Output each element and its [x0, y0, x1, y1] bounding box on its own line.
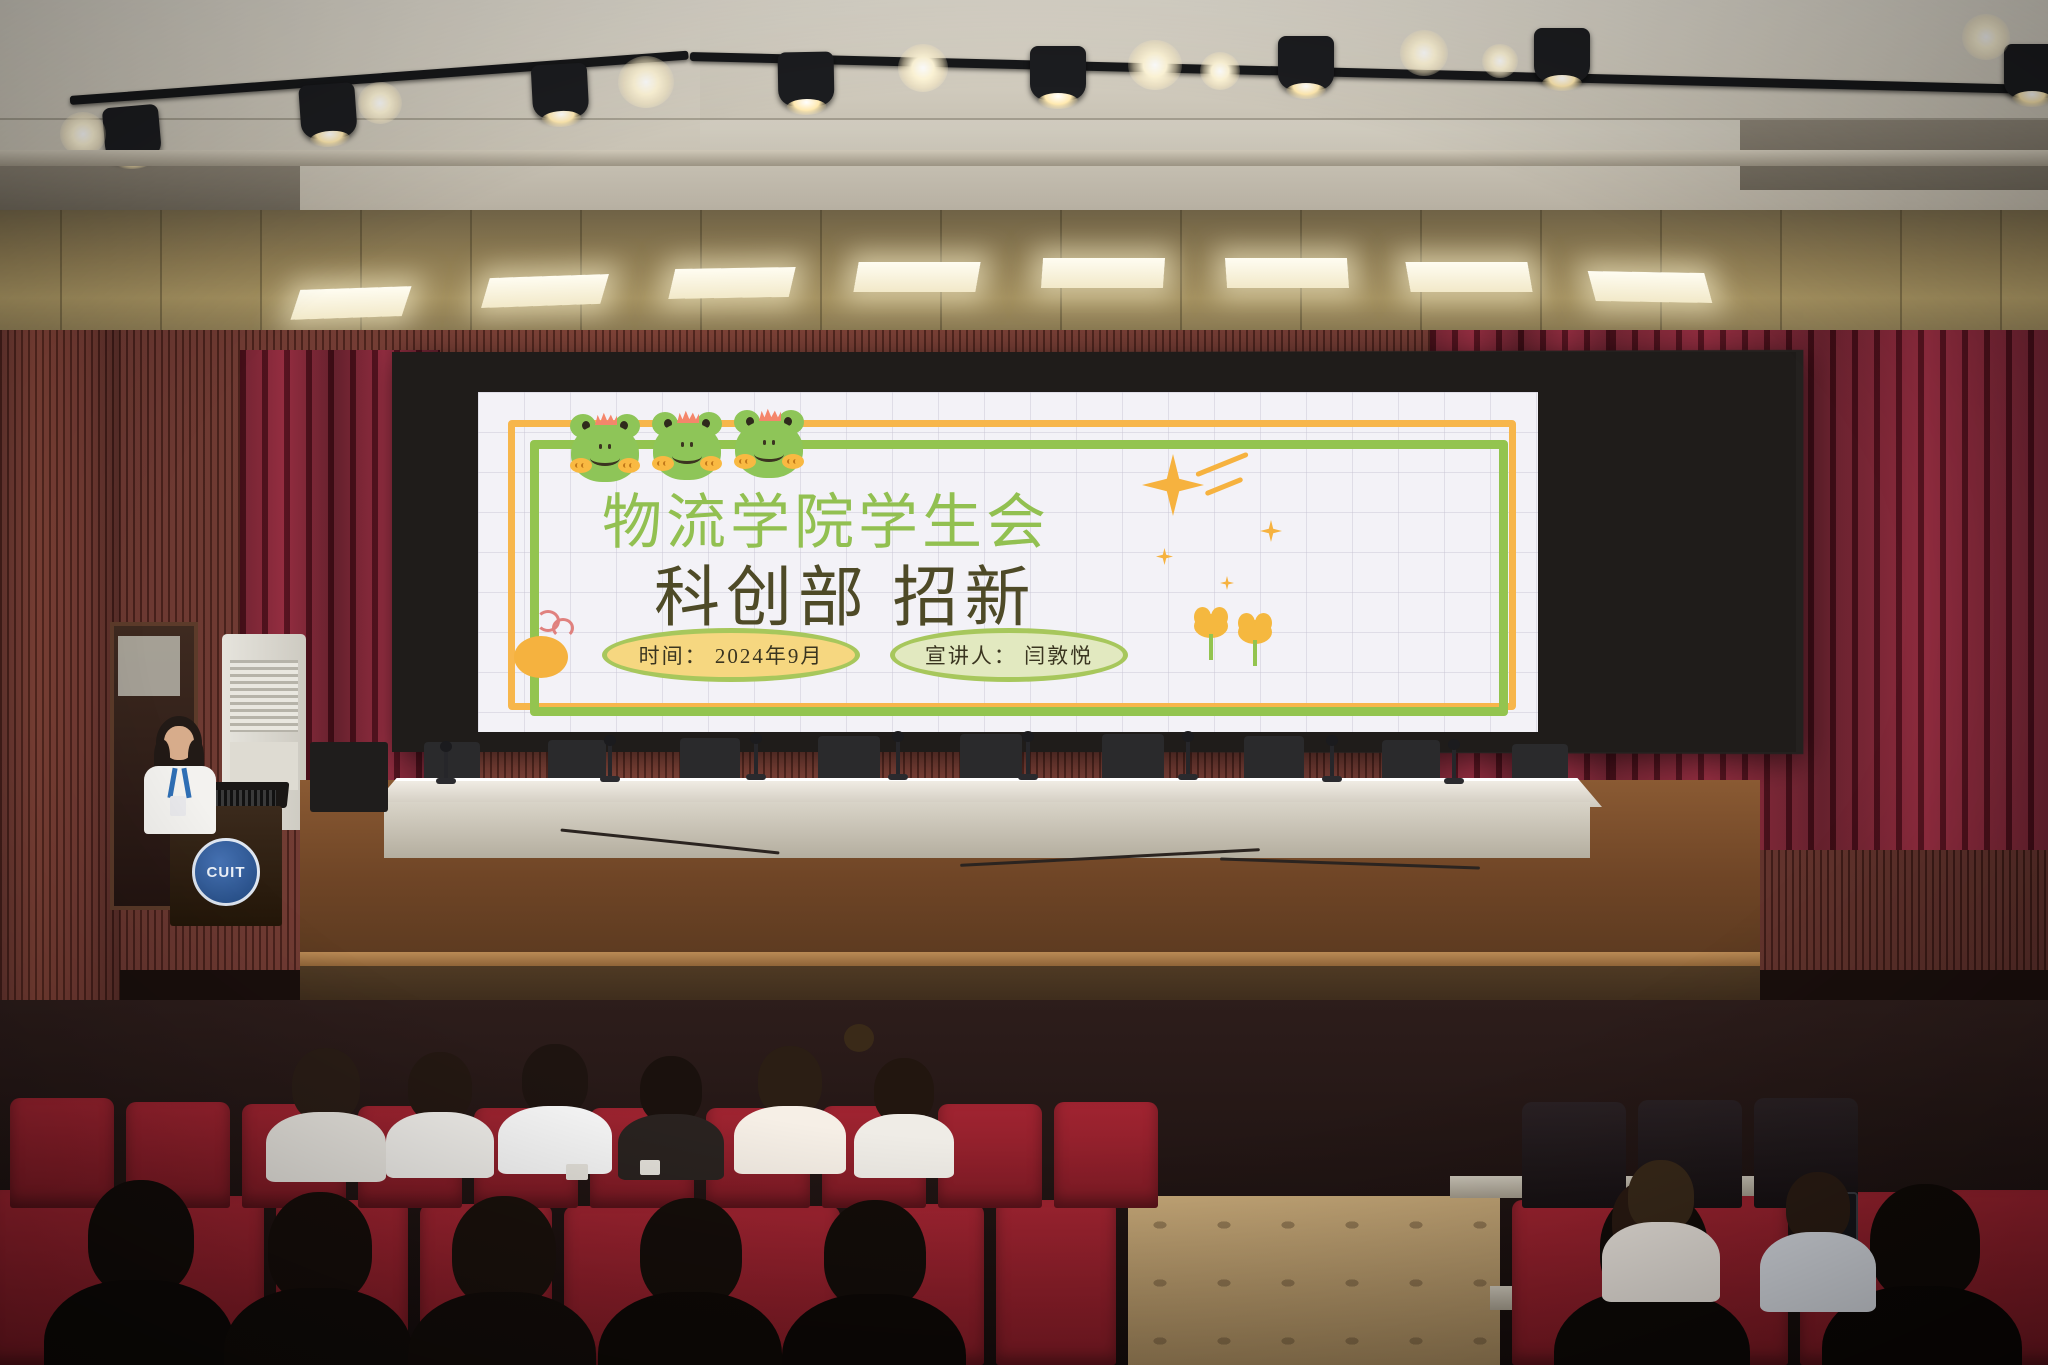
floor-speaker-monitor — [310, 742, 388, 812]
table-microphone-5 — [1026, 740, 1030, 776]
spotlight-2 — [298, 82, 358, 140]
microphone-base-8 — [1444, 778, 1464, 784]
microphone-base-3 — [746, 774, 766, 780]
table-microphone-3 — [754, 742, 758, 776]
table-microphone-2 — [608, 744, 612, 778]
microphone-base-6 — [1178, 774, 1198, 780]
soffit-lip — [0, 150, 2048, 166]
conference-chair-6 — [1102, 734, 1164, 784]
table-microphone-1 — [444, 750, 448, 780]
spotlight-8 — [2004, 44, 2048, 98]
ceiling-bulb-9 — [1962, 14, 2010, 60]
table-microphone-4 — [896, 740, 900, 776]
flower-decoration-2 — [1238, 620, 1272, 666]
seat-row2-11 — [1522, 1102, 1626, 1208]
ceiling-bulb-3 — [618, 56, 674, 108]
slide-pill-time: 时间： 2024年9月 — [602, 628, 860, 682]
microphone-base-7 — [1322, 776, 1342, 782]
microphone-base-2 — [600, 776, 620, 782]
sparkle-star-icon — [1142, 454, 1204, 516]
door-window — [118, 636, 180, 696]
ceiling-bulb-4 — [898, 44, 948, 92]
ceiling-bulb-7 — [1400, 30, 1448, 76]
spotlight-4 — [778, 52, 835, 107]
microphone-base-4 — [888, 774, 908, 780]
aisle-carpet — [1128, 1196, 1500, 1365]
ceiling-troffer-8 — [1588, 271, 1713, 303]
cuit-emblem-logo: CUIT — [192, 838, 260, 906]
conference-chair-5 — [960, 734, 1022, 784]
presenter-name-badge — [170, 796, 186, 816]
auditorium-photo: 物流学院学生会 科创部 招新 时间： 2024年9月 宣讲人： 闫敦悦 CU — [0, 0, 2048, 1365]
seat-row2-1 — [10, 1098, 114, 1208]
orange-squiggle-2 — [552, 618, 574, 638]
ceiling-bulb-8 — [1482, 44, 1518, 78]
ceiling-troffer-5 — [1041, 258, 1165, 288]
air-conditioner-vents — [230, 660, 298, 732]
ceiling-bulb-2 — [358, 82, 402, 124]
audience-badge-2 — [640, 1160, 660, 1175]
seat-row1-8 — [996, 1200, 1116, 1365]
spotlight-6 — [1278, 36, 1334, 90]
spotlight-7 — [1534, 28, 1590, 82]
pumpkin-decoration — [514, 636, 568, 678]
presenter-at-podium — [140, 716, 230, 816]
table-microphone-8 — [1452, 748, 1456, 780]
microphone-base-5 — [1018, 774, 1038, 780]
table-microphone-6 — [1186, 740, 1190, 776]
ceiling-troffer-2 — [481, 274, 609, 308]
audience-badge-1 — [566, 1164, 588, 1180]
spotlight-3 — [531, 63, 590, 120]
ceiling-troffer-6 — [1225, 258, 1349, 288]
slide-pill-speaker: 宣讲人： 闫敦悦 — [890, 628, 1128, 682]
frog-decoration-2 — [650, 412, 724, 482]
table-microphone-7 — [1330, 744, 1334, 778]
ceiling-troffer-1 — [290, 286, 411, 320]
ceiling-troffer-4 — [853, 262, 980, 292]
spotlight-5 — [1030, 46, 1086, 100]
ceiling-bulb-6 — [1200, 52, 1240, 90]
ceiling-bulb-5 — [1128, 40, 1182, 90]
projected-slide: 物流学院学生会 科创部 招新 时间： 2024年9月 宣讲人： 闫敦悦 — [478, 392, 1538, 732]
slide-title-line-2: 科创部 招新 — [654, 544, 1037, 640]
ceiling-troffer-7 — [1405, 262, 1532, 292]
seat-row2-10 — [1054, 1102, 1158, 1208]
wall-left-lower — [0, 330, 120, 1030]
frog-decoration-3 — [732, 410, 806, 480]
microphone-base-1 — [436, 778, 456, 784]
ceiling-troffer-3 — [668, 267, 795, 299]
flower-decoration-1-shape — [1194, 614, 1228, 660]
